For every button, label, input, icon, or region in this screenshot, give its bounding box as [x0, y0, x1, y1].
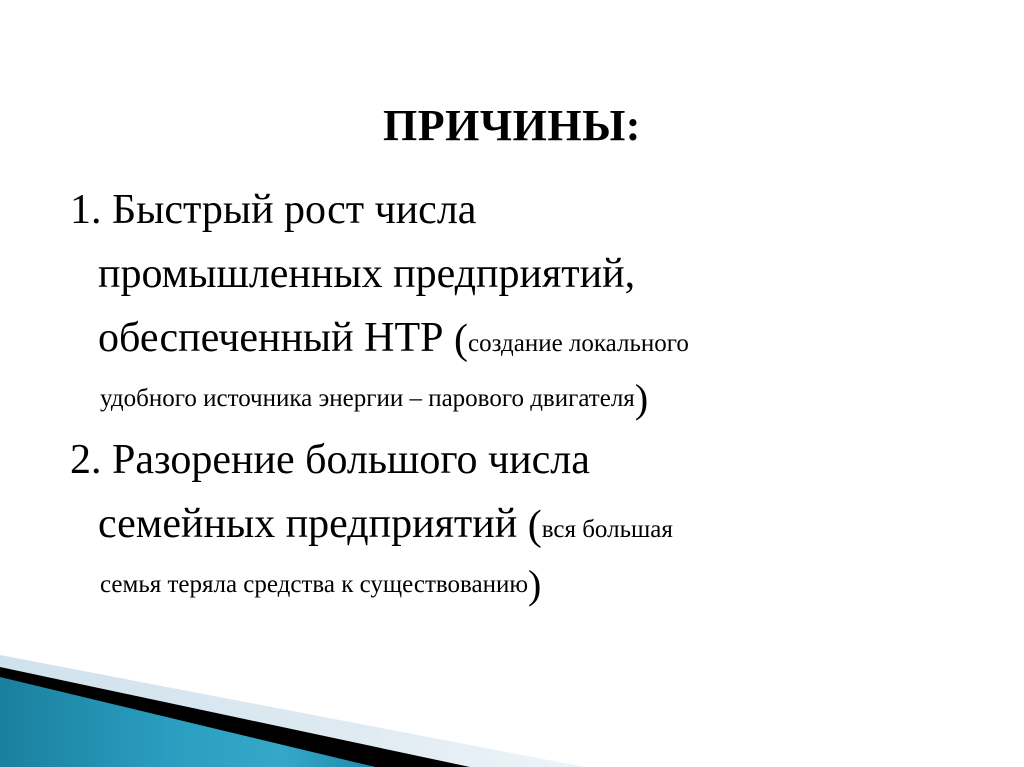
teal-triangle [0, 677, 375, 767]
close-paren-icon-2: ) [528, 562, 541, 607]
list-item-1-line-4-note: удобного источника энергии – парового дв… [100, 385, 635, 412]
list-item-1-line-2: промышленных предприятий, [70, 242, 970, 306]
corner-banner-icon [0, 637, 620, 767]
list-item-1-line-3: обеспеченный НТР (создание локального [70, 306, 970, 370]
list-item-2-line-1: 2. Разорение большого числа [70, 428, 970, 492]
bottom-left-corner-decoration [0, 637, 620, 767]
black-stripe [0, 667, 470, 767]
close-paren-icon-1: ) [635, 376, 648, 421]
list-item-1-line-3-note: создание локального [468, 330, 689, 357]
list-item-1-line-3-main: обеспеченный НТР [98, 315, 454, 361]
list-item-2-line-3-note: семья теряла средства к существованию [100, 571, 528, 598]
list-item-1-line-1: 1. Быстрый рост числа [70, 178, 970, 242]
slide-canvas: ПРИЧИНЫ: 1. Быстрый рост числа промышлен… [0, 0, 1024, 767]
page-title: ПРИЧИНЫ: [0, 103, 1024, 149]
list-item-2-line-3: семья теряла средства к существованию) [70, 556, 970, 614]
list-item-1-line-4: удобного источника энергии – парового дв… [70, 370, 970, 428]
list-item-2-line-2: семейных предприятий (вся большая [70, 492, 970, 556]
list-item-2-line-2-note: вся большая [542, 516, 673, 543]
list-item-2-line-2-main: семейных предприятий [98, 501, 528, 547]
open-paren-icon-1: ( [454, 317, 468, 363]
slide-body: 1. Быстрый рост числа промышленных предп… [70, 178, 970, 614]
open-paren-icon-2: ( [528, 503, 542, 549]
pale-blue-stripe [0, 655, 585, 767]
